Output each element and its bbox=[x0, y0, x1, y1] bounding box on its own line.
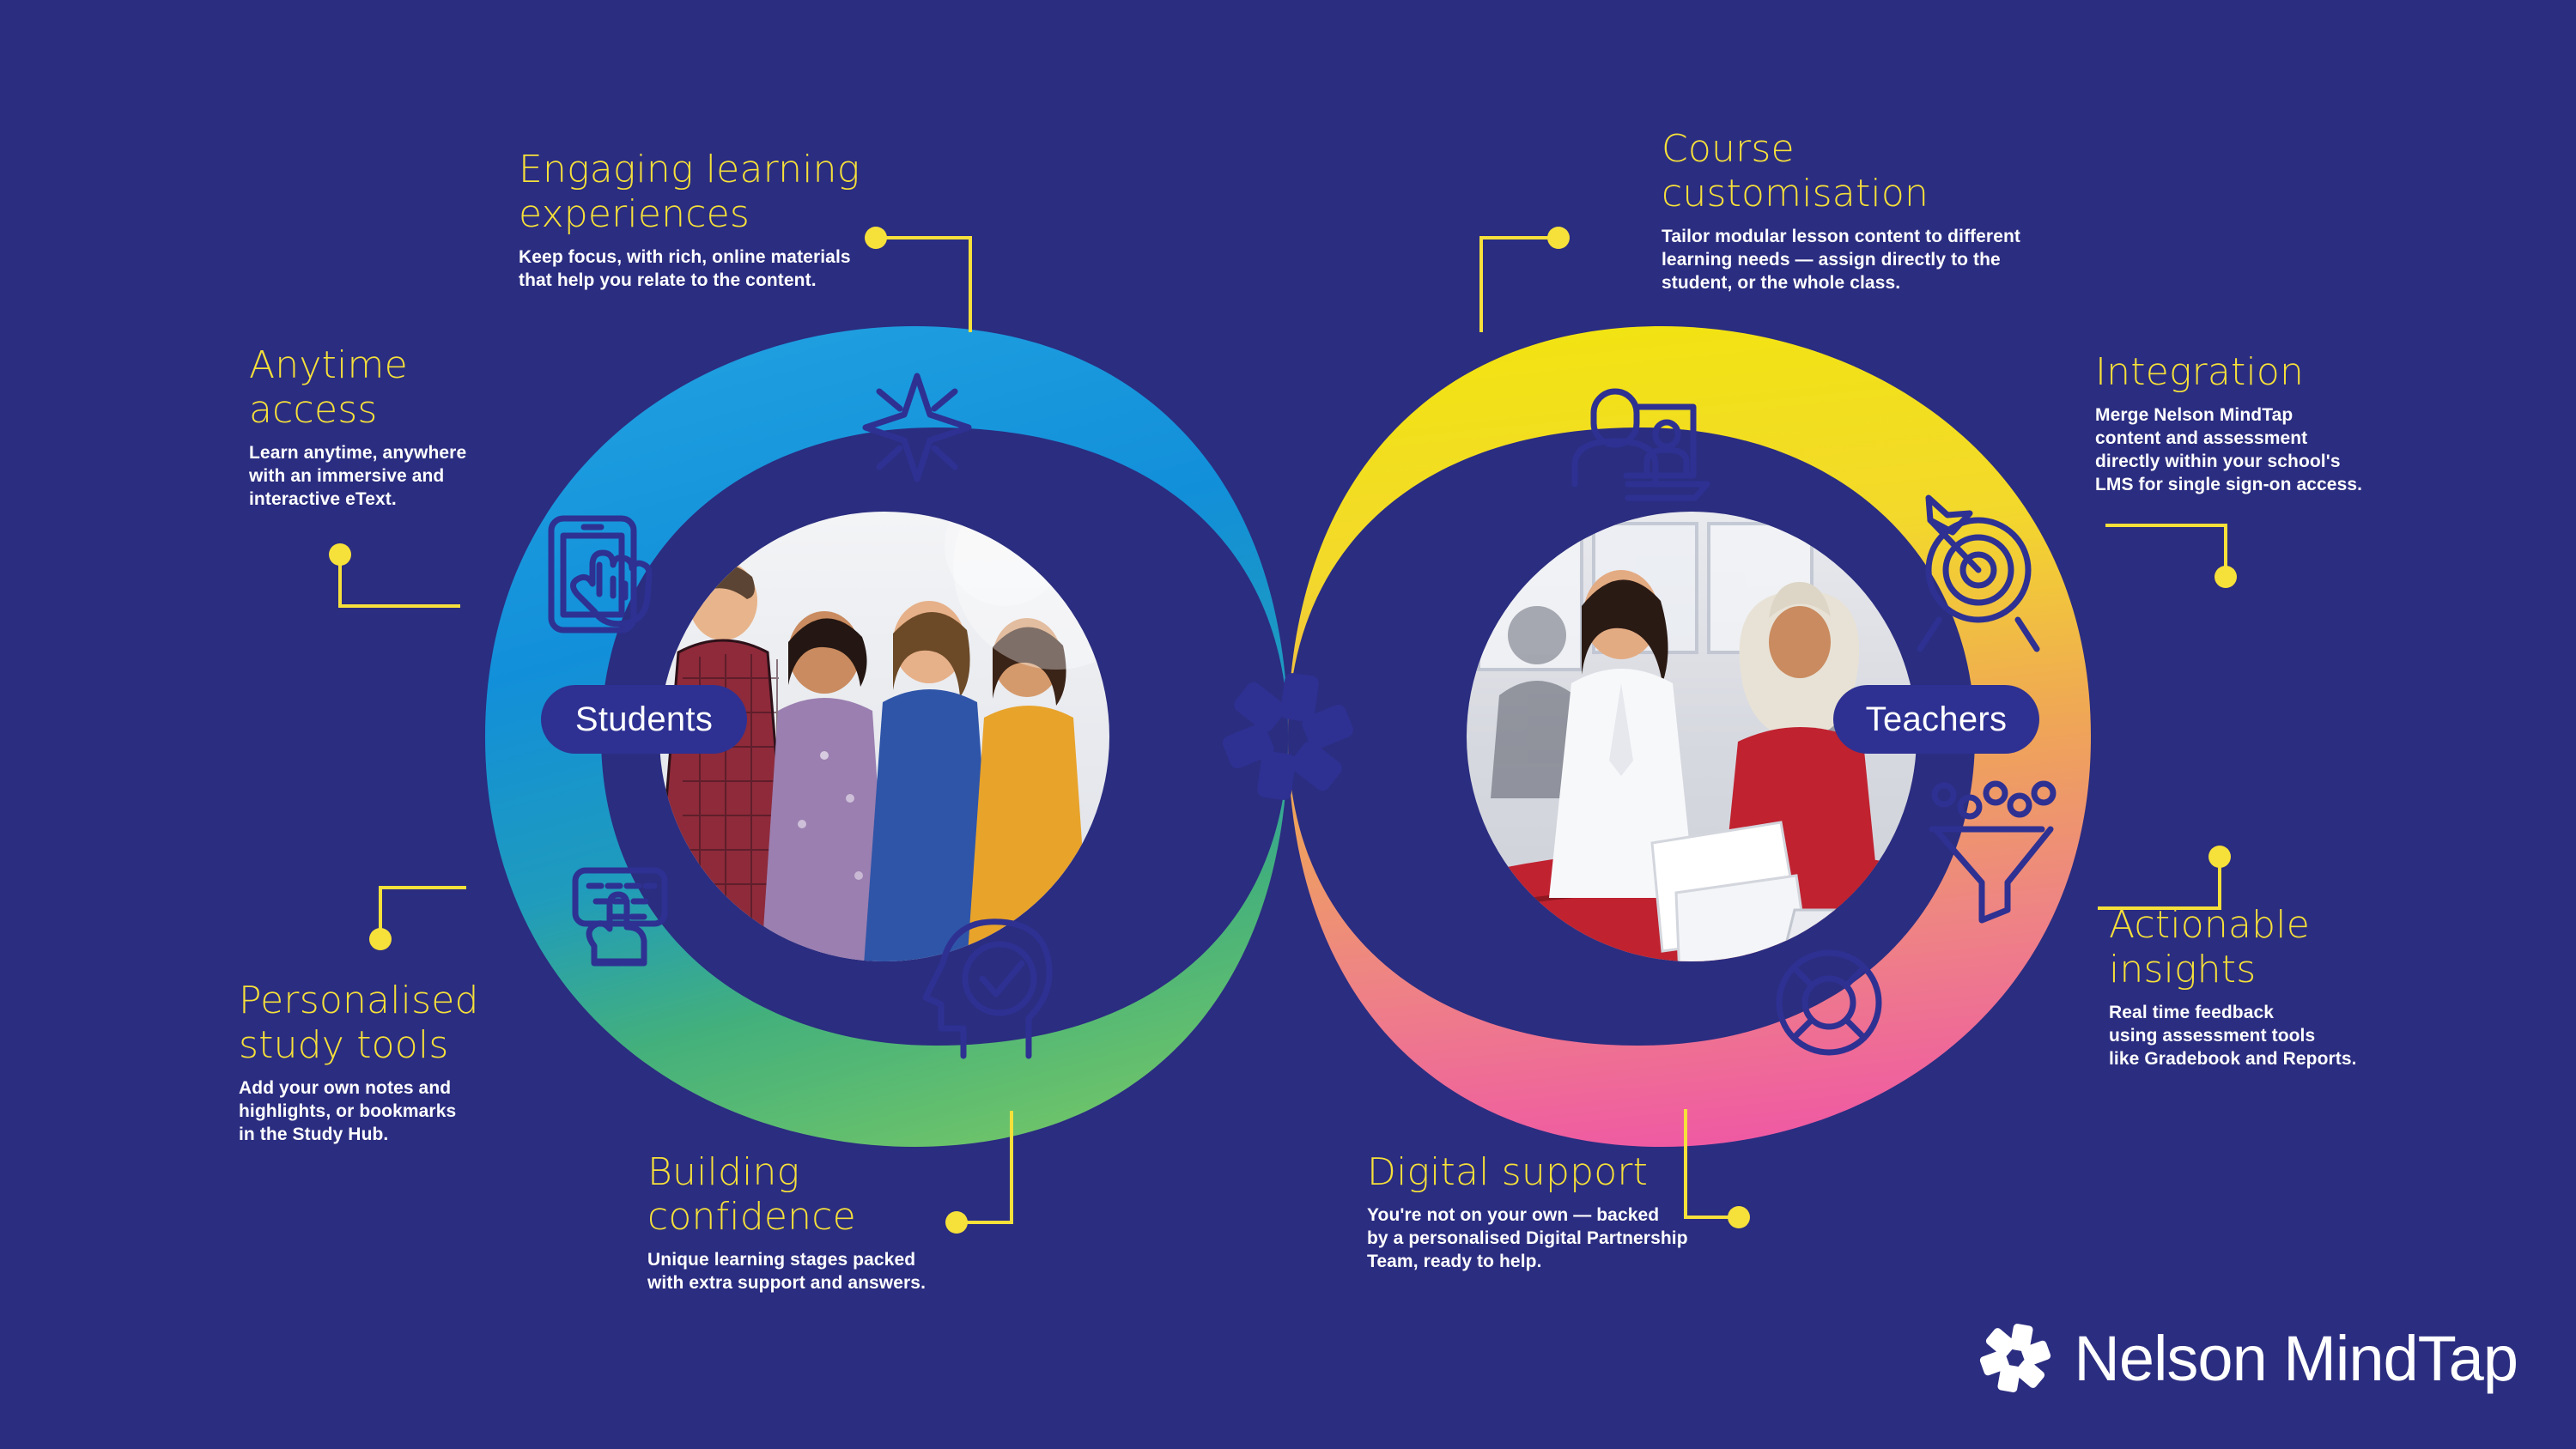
nelson-mindtap-logo: Nelson MindTap bbox=[1976, 1319, 2518, 1397]
teachers-pill[interactable]: Teachers bbox=[1833, 685, 2039, 754]
callout-title: Course customisation bbox=[1662, 127, 2065, 216]
callout-title: Anytime access bbox=[249, 343, 532, 433]
infographic-canvas: Students Teachers Engaging learning expe… bbox=[0, 0, 2576, 1449]
callout-title: Personalised study tools bbox=[239, 979, 548, 1068]
callout-title: Digital support bbox=[1367, 1150, 1745, 1195]
callout-actionable-insights: Actionable insights Real time feedback u… bbox=[2109, 903, 2418, 1070]
callout-personalised-study-tools: Personalised study tools Add your own no… bbox=[239, 979, 548, 1146]
callout-title: Engaging learning experiences bbox=[519, 148, 922, 237]
callout-body: Keep focus, with rich, online materials … bbox=[519, 246, 922, 292]
burst-mark-icon bbox=[1976, 1319, 2055, 1397]
callout-digital-support: Digital support You're not on your own —… bbox=[1367, 1150, 1745, 1273]
presenter-screen-icon bbox=[1575, 391, 1707, 498]
students-pill-label: Students bbox=[575, 700, 713, 739]
callout-title: Actionable insights bbox=[2109, 903, 2418, 992]
callout-title: Integration bbox=[2095, 350, 2404, 395]
students-pill[interactable]: Students bbox=[541, 685, 747, 754]
callout-body: Tailor modular lesson content to differe… bbox=[1662, 225, 2065, 294]
callout-integration: Integration Merge Nelson MindTap content… bbox=[2095, 350, 2404, 496]
callout-course-customisation: Course customisation Tailor modular less… bbox=[1662, 127, 2065, 294]
callout-anytime-access: Anytime access Learn anytime, anywhere w… bbox=[249, 343, 532, 511]
callout-title: Building confidence bbox=[647, 1150, 1008, 1240]
callout-body: You're not on your own — backed by a per… bbox=[1367, 1203, 1745, 1273]
logo-wordmark: Nelson MindTap bbox=[2074, 1322, 2518, 1395]
callout-body: Merge Nelson MindTap content and assessm… bbox=[2095, 403, 2404, 496]
tablet-touch-icon bbox=[551, 518, 649, 630]
teachers-pill-label: Teachers bbox=[1866, 700, 2008, 739]
callout-body: Learn anytime, anywhere with an immersiv… bbox=[249, 441, 532, 511]
callout-body: Unique learning stages packed with extra… bbox=[647, 1248, 1008, 1294]
callout-body: Add your own notes and highlights, or bo… bbox=[239, 1076, 548, 1146]
infinity-loop-graphic bbox=[0, 0, 2576, 1449]
callout-engaging-learning-experiences: Engaging learning experiences Keep focus… bbox=[519, 148, 922, 292]
callout-building-confidence: Building confidence Unique learning stag… bbox=[647, 1150, 1008, 1294]
callout-body: Real time feedback using assessment tool… bbox=[2109, 1001, 2418, 1070]
